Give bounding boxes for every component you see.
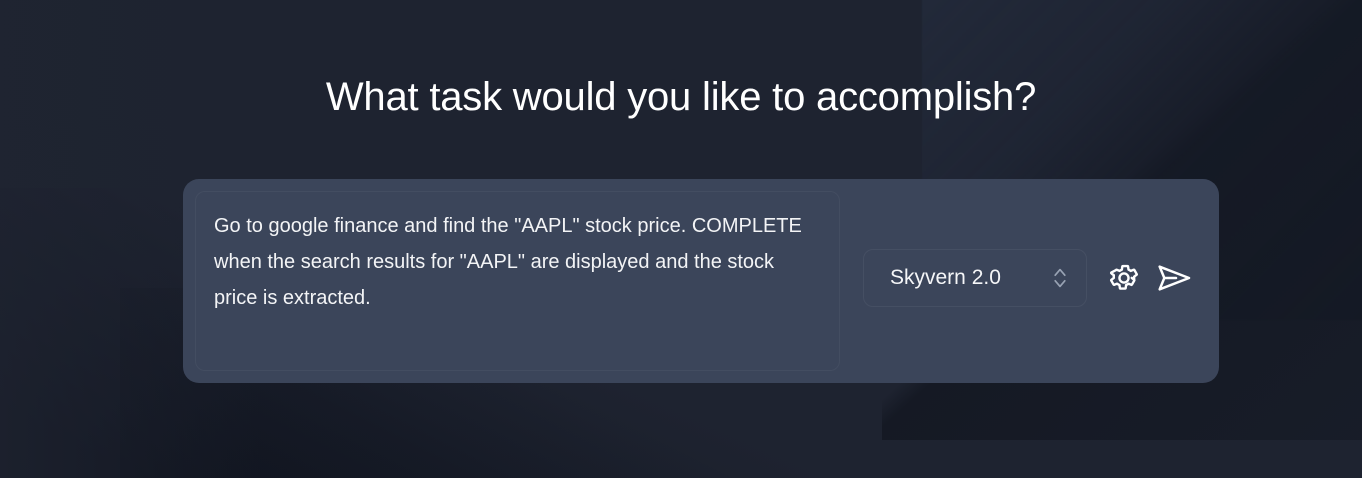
chevron-up-down-icon bbox=[1052, 264, 1068, 292]
task-composer-page: What task would you like to accomplish? … bbox=[0, 0, 1362, 478]
task-input[interactable] bbox=[196, 192, 839, 370]
model-select-value: Skyvern 2.0 bbox=[890, 266, 1001, 290]
settings-button[interactable] bbox=[1101, 255, 1147, 301]
composer-controls: Skyvern 2.0 bbox=[863, 249, 1197, 307]
send-button[interactable] bbox=[1151, 255, 1197, 301]
send-icon bbox=[1154, 258, 1194, 298]
task-input-container[interactable] bbox=[195, 191, 840, 371]
prompt-card: Skyvern 2.0 bbox=[183, 179, 1219, 383]
gear-icon bbox=[1107, 261, 1141, 295]
model-select[interactable]: Skyvern 2.0 bbox=[863, 249, 1087, 307]
page-title: What task would you like to accomplish? bbox=[0, 72, 1362, 122]
